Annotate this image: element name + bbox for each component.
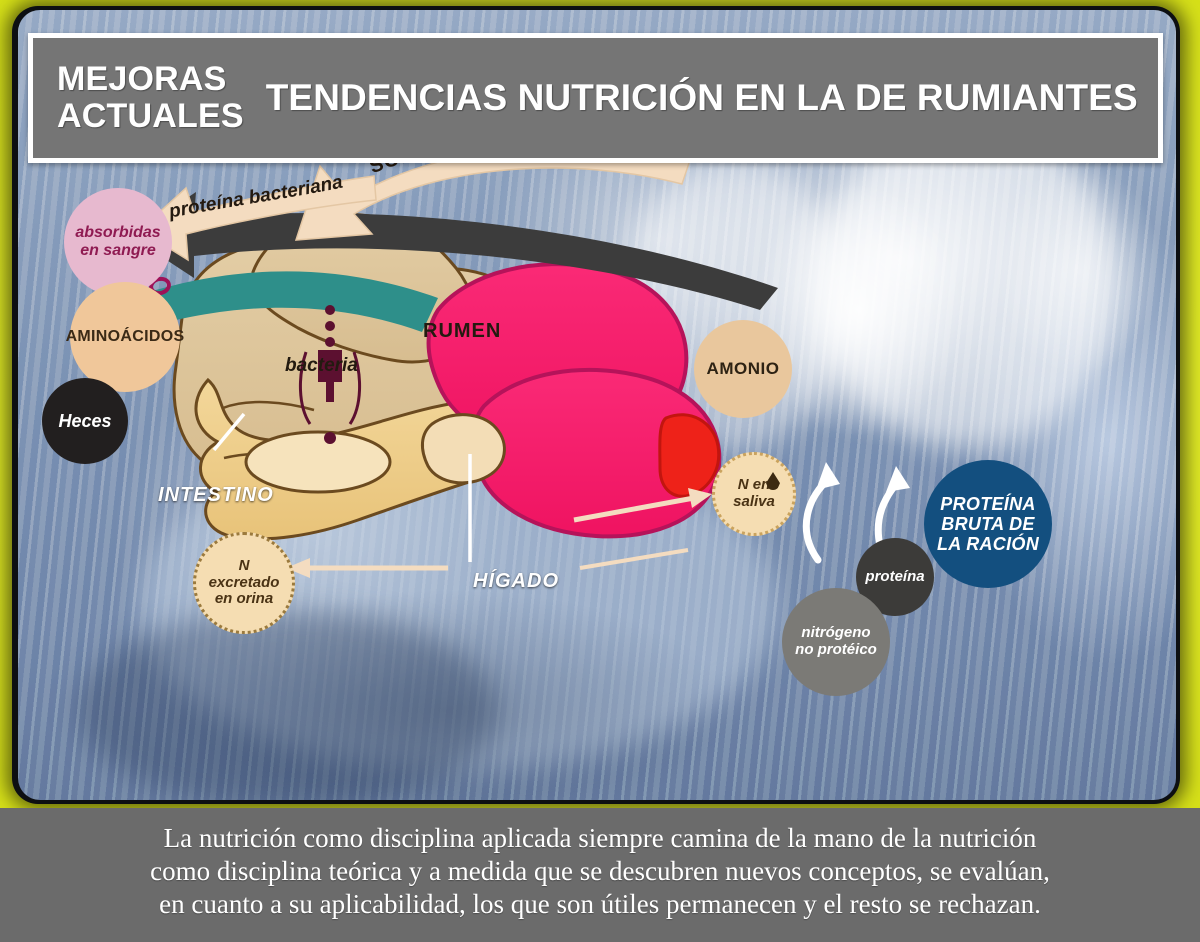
higado-to-orina-arrow <box>286 558 448 578</box>
caption-line-2: como disciplina teórica y a medida que s… <box>10 855 1190 888</box>
bubble-n-en-saliva[interactable]: N en saliva <box>712 452 796 536</box>
slide-title-bar: MEJORAS ACTUALES TENDENCIAS NUTRICIÓN EN… <box>28 33 1163 163</box>
label-intestino: INTESTINO <box>158 484 274 507</box>
bubble-label: PROTEÍNA BRUTA DE LA RACIÓN <box>931 494 1045 554</box>
caption-line-1: La nutrición como disciplina aplicada si… <box>10 822 1190 855</box>
bubble-aminoacidos[interactable]: AMINOÁCIDOS <box>70 282 180 392</box>
label-bacteria: bacteria <box>285 355 358 377</box>
bubble-n-excretado-en-orina[interactable]: N excretado en orina <box>193 532 295 634</box>
liver-shape <box>422 415 504 483</box>
bubble-nitrogeno-no-proteico[interactable]: nitrógeno no protéico <box>782 588 890 696</box>
caption-line-3: en cuanto a su aplicabilidad, los que so… <box>10 888 1190 921</box>
bubble-label: proteína <box>859 569 930 586</box>
bubble-label: N excretado en orina <box>203 558 286 608</box>
bubble-label: AMINOÁCIDOS <box>60 328 191 346</box>
bubble-absorbidas-en-sangre[interactable]: absorbidas en sangre <box>64 188 172 296</box>
page-title: TENDENCIAS NUTRICIÓN EN LA DE RUMIANTES <box>266 77 1138 119</box>
label-higado: HÍGADO <box>473 570 559 593</box>
slide-root: Proteína que escapa de la descomposición… <box>0 0 1200 942</box>
label-rumen: RUMEN <box>423 320 501 343</box>
bubble-label: AMONIO <box>701 359 786 378</box>
higado-right-line <box>580 550 688 568</box>
white-arrowhead-2 <box>886 466 910 492</box>
bubble-label: nitrógeno no protéico <box>789 625 883 659</box>
bubble-amonio[interactable]: AMONIO <box>694 320 792 418</box>
bubble-label: absorbidas en sangre <box>69 224 166 260</box>
bubble-proteina-bruta-racion[interactable]: PROTEÍNA BRUTA DE LA RACIÓN <box>924 460 1052 588</box>
slide-caption: La nutrición como disciplina aplicada si… <box>0 808 1200 942</box>
white-arrowhead-1 <box>816 462 840 490</box>
cecum-shape <box>246 432 390 492</box>
bubble-label: Heces <box>52 411 117 431</box>
bubble-heces[interactable]: Heces <box>42 378 128 464</box>
title-eyebrow: MEJORAS ACTUALES <box>57 61 244 134</box>
